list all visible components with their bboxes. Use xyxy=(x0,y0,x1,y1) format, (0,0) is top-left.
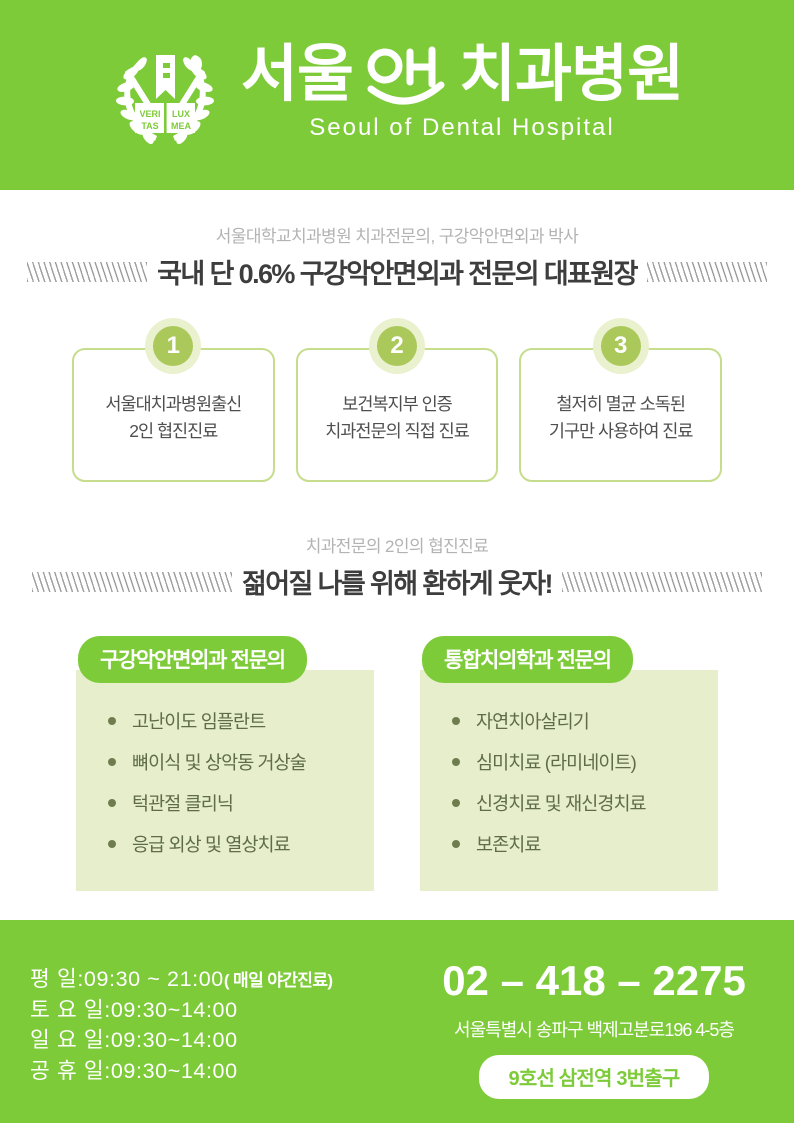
card-number-2: 2 xyxy=(377,326,417,366)
hatch-decoration-left xyxy=(27,262,147,282)
brand-subtitle-english: Seoul of Dental Hospital xyxy=(309,114,614,142)
panel-list-1: 고난이도 임플란트 뼈이식 및 상악동 거상술 턱관절 클리닉 응급 외상 및 … xyxy=(106,708,374,857)
hatch-decoration-left-2 xyxy=(32,572,232,592)
feature-card-1[interactable]: 1 서울대치과병원출신 2인 협진진료 xyxy=(72,348,275,482)
intro-headline: 서울대학교치과병원 치과전문의, 구강악안면외과 박사 국내 단 0.6% 구강… xyxy=(0,222,794,291)
intro-title: 국내 단 0.6% 구강악안면외과 전문의 대표원장 xyxy=(157,252,637,291)
mid-headline: 치과전문의 2인의 협진진료 젊어질 나를 위해 환하게 웃자! xyxy=(0,532,794,601)
hours-day-2: 토 요 일 xyxy=(30,998,104,1022)
hours-row: 공 휴 일:09:30~14:00 xyxy=(30,1056,332,1087)
snu-laurel-crest-icon: VERI LUX TAS MEA xyxy=(111,33,219,153)
mid-subtitle: 치과전문의 2인의 협진진료 xyxy=(0,532,794,557)
panel-pill-label-2: 통합치의학과 전문의 xyxy=(422,636,633,683)
brand-lockup: VERI LUX TAS MEA 서울 xyxy=(111,33,683,153)
panel-body-1: 고난이도 임플란트 뼈이식 및 상악동 거상술 턱관절 클리닉 응급 외상 및 … xyxy=(76,670,374,891)
business-hours-block: 평 일:09:30 ~ 21:00( 매일 야간진료) 토 요 일:09:30~… xyxy=(30,964,332,1086)
list-item: 신경치료 및 재신경치료 xyxy=(450,790,718,816)
hours-row: 토 요 일:09:30~14:00 xyxy=(30,995,332,1026)
feature-card-2[interactable]: 2 보건복지부 인증 치과전문의 직접 진료 xyxy=(296,348,499,482)
emblem-motto-veri: VERI xyxy=(139,109,160,119)
hatch-decoration-right xyxy=(647,262,767,282)
header-band: VERI LUX TAS MEA 서울 xyxy=(0,0,794,190)
card-number-badge-2: 2 xyxy=(369,318,425,374)
smile-tooth-mark-icon xyxy=(363,44,449,106)
hours-row: 평 일:09:30 ~ 21:00( 매일 야간진료) xyxy=(30,964,332,995)
card-number-3: 3 xyxy=(601,326,641,366)
hatch-decoration-right-2 xyxy=(562,572,762,592)
mid-title: 젊어질 나를 위해 환하게 웃자! xyxy=(242,562,552,601)
hours-time-4: 09:30~14:00 xyxy=(111,1059,238,1083)
emblem-motto-tas: TAS xyxy=(141,121,158,131)
subway-badge: 9호선 삼전역 3번출구 xyxy=(479,1055,710,1099)
specialty-panel-list: 구강악안면외과 전문의 고난이도 임플란트 뼈이식 및 상악동 거상술 턱관절 … xyxy=(76,636,718,891)
list-item: 응급 외상 및 열상치료 xyxy=(106,831,374,857)
brand-title-left: 서울 xyxy=(241,44,353,106)
list-item: 자연치아살리기 xyxy=(450,708,718,734)
list-item: 고난이도 임플란트 xyxy=(106,708,374,734)
brand-title: 서울 치과병원 xyxy=(241,44,683,106)
emblem-motto-mea: MEA xyxy=(171,121,192,131)
list-item: 턱관절 클리닉 xyxy=(106,790,374,816)
hours-day-4: 공 휴 일 xyxy=(30,1059,104,1083)
card-line-1b: 2인 협진진료 xyxy=(105,418,241,445)
panel-pill-label-1: 구강악안면외과 전문의 xyxy=(78,636,307,683)
card-text-1: 서울대치과병원출신 2인 협진진료 xyxy=(105,391,241,445)
footer-band: 평 일:09:30 ~ 21:00( 매일 야간진료) 토 요 일:09:30~… xyxy=(0,920,794,1123)
card-number-badge-1: 1 xyxy=(145,318,201,374)
feature-card-3[interactable]: 3 철저히 멸균 소독된 기구만 사용하여 진료 xyxy=(519,348,722,482)
hours-day-1: 평 일 xyxy=(30,967,77,991)
panel-body-2: 자연치아살리기 심미치료 (라미네이트) 신경치료 및 재신경치료 보존치료 xyxy=(420,670,718,891)
card-text-2: 보건복지부 인증 치과전문의 직접 진료 xyxy=(325,391,469,445)
panel-list-2: 자연치아살리기 심미치료 (라미네이트) 신경치료 및 재신경치료 보존치료 xyxy=(450,708,718,857)
feature-card-list: 1 서울대치과병원출신 2인 협진진료 2 보건복지부 인증 치과전문의 직접 … xyxy=(72,348,722,482)
list-item: 보존치료 xyxy=(450,831,718,857)
card-text-3: 철저히 멸균 소독된 기구만 사용하여 진료 xyxy=(549,391,693,445)
card-line-2a: 보건복지부 인증 xyxy=(325,391,469,418)
hours-time-1: 09:30 ~ 21:00 xyxy=(84,967,224,991)
brand-title-right: 치과병원 xyxy=(459,44,683,106)
card-line-1a: 서울대치과병원출신 xyxy=(105,391,241,418)
card-line-2b: 치과전문의 직접 진료 xyxy=(325,418,469,445)
list-item: 심미치료 (라미네이트) xyxy=(450,749,718,775)
brand-text-block: 서울 치과병원 Seoul of Dental Hospital xyxy=(241,44,683,142)
card-number-1: 1 xyxy=(153,326,193,366)
hours-time-2: 09:30~14:00 xyxy=(111,998,238,1022)
hours-day-3: 일 요 일 xyxy=(30,1028,104,1052)
card-number-badge-3: 3 xyxy=(593,318,649,374)
contact-block: 02 – 418 – 2275 서울특별시 송파구 백제고분로196 4-5층 … xyxy=(408,960,780,1099)
mid-title-row: 젊어질 나를 위해 환하게 웃자! xyxy=(0,562,794,601)
hours-time-3: 09:30~14:00 xyxy=(111,1028,238,1052)
hours-row: 일 요 일:09:30~14:00 xyxy=(30,1025,332,1056)
address-text: 서울특별시 송파구 백제고분로196 4-5층 xyxy=(408,1016,780,1042)
specialty-panel-integrated-dentistry: 통합치의학과 전문의 자연치아살리기 심미치료 (라미네이트) 신경치료 및 재… xyxy=(420,636,718,891)
list-item: 뼈이식 및 상악동 거상술 xyxy=(106,749,374,775)
specialty-panel-oral-maxillofacial: 구강악안면외과 전문의 고난이도 임플란트 뼈이식 및 상악동 거상술 턱관절 … xyxy=(76,636,374,891)
card-line-3a: 철저히 멸균 소독된 xyxy=(549,391,693,418)
intro-title-row: 국내 단 0.6% 구강악안면외과 전문의 대표원장 xyxy=(0,252,794,291)
intro-subtitle: 서울대학교치과병원 치과전문의, 구강악안면외과 박사 xyxy=(0,222,794,247)
card-line-3b: 기구만 사용하여 진료 xyxy=(549,418,693,445)
phone-number[interactable]: 02 – 418 – 2275 xyxy=(408,960,780,1002)
hours-note-1: ( 매일 야간진료) xyxy=(224,971,333,990)
emblem-motto-lux: LUX xyxy=(172,109,190,119)
